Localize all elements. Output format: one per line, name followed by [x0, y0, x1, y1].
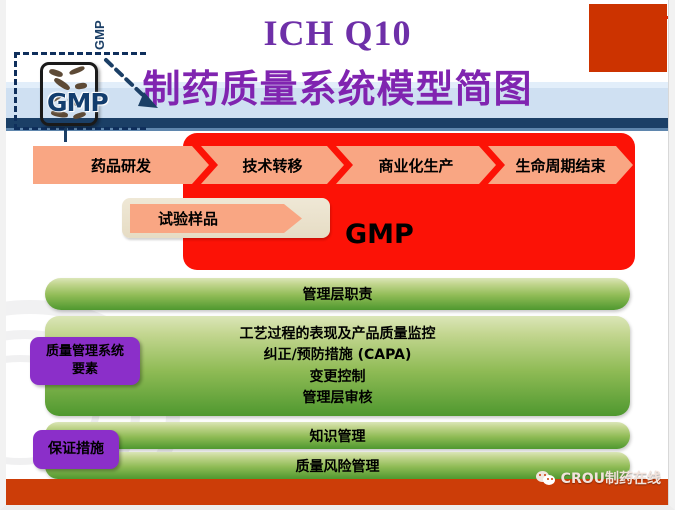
wechat-icon: [536, 471, 556, 486]
lifecycle-step-3[interactable]: 商业化生产: [336, 146, 496, 184]
management-responsibility-bar[interactable]: 管理层职责: [45, 278, 630, 310]
lifecycle-step-4-label: 生命周期结束: [515, 155, 605, 176]
footer-watermark-text: CROU制药在线: [561, 468, 661, 488]
gmp-callout-label: GMP: [92, 20, 107, 50]
knowledge-management-label: 知识管理: [310, 426, 366, 446]
qms-elements-side-label-line1: 质量管理系统: [46, 343, 124, 361]
qs-element-4: 管理层审核: [303, 390, 373, 406]
gmp-icon-label: GMP: [47, 88, 108, 117]
lifecycle-step-3-label: 商业化生产: [378, 155, 453, 176]
gmp-scope-label: GMP: [345, 219, 525, 250]
enablers-side-label-text: 保证措施: [48, 440, 104, 459]
lifecycle-step-4[interactable]: 生命周期结束: [488, 146, 633, 184]
slide-header: ICH Q10 制药质量系统模型简图 GMP GMP: [0, 0, 675, 132]
management-responsibility-label: 管理层职责: [303, 284, 373, 304]
enablers-side-label[interactable]: 保证措施: [33, 430, 119, 469]
qs-element-2: 纠正/预防措施 (CAPA): [264, 347, 412, 363]
quality-risk-management-label: 质量风险管理: [296, 456, 380, 476]
qs-element-3: 变更控制: [310, 369, 366, 385]
lifecycle-step-2-label: 技术转移: [242, 155, 302, 176]
footer-watermark: CROU制药在线: [536, 468, 661, 488]
lifecycle-process-row: 药品研发 技术转移 商业化生产 生命周期结束: [33, 146, 633, 184]
page-right-edge: [668, 0, 675, 510]
slide-canvas: ICH Q10 制药质量系统模型简图 GMP GMP GMP 药品研发: [0, 0, 675, 510]
qs-element-1: 工艺过程的表现及产品质量监控: [240, 326, 436, 342]
qms-elements-side-label[interactable]: 质量管理系统 要素: [30, 337, 140, 385]
lifecycle-step-1-label: 药品研发: [91, 155, 151, 176]
lifecycle-step-2[interactable]: 技术转移: [201, 146, 344, 184]
gmp-highlight-tick: [64, 128, 67, 142]
knowledge-management-bar[interactable]: 知识管理: [45, 422, 630, 449]
gmp-pointer-arrow-icon: [100, 56, 170, 118]
trial-sample-label: 试验样品: [130, 208, 218, 229]
trial-sample-arrow[interactable]: 试验样品: [130, 204, 302, 233]
qms-elements-side-label-line2: 要素: [72, 361, 98, 379]
lifecycle-step-1[interactable]: 药品研发: [33, 146, 209, 184]
